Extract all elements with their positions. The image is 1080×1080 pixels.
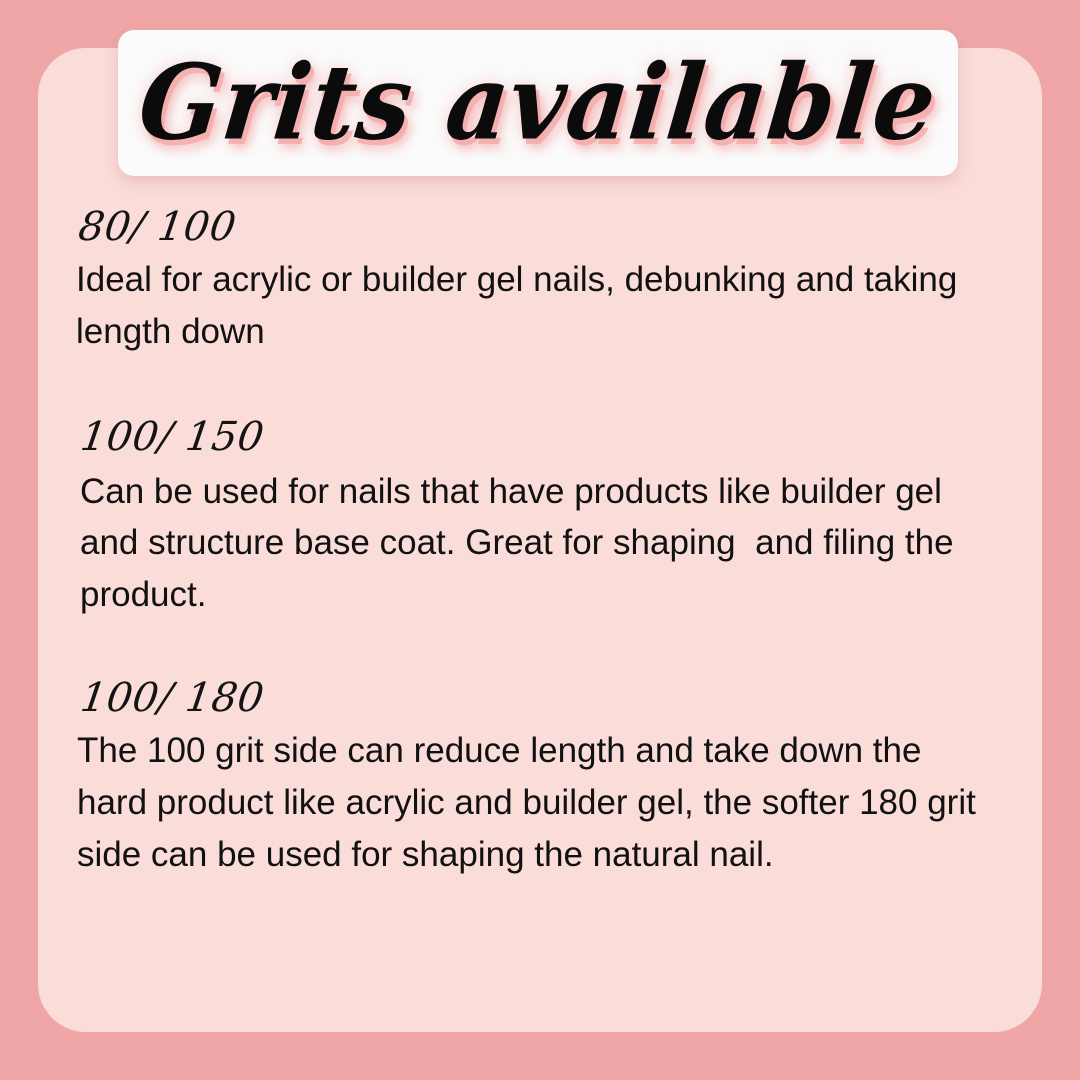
grit-description: Ideal for acrylic or builder gel nails, … xyxy=(76,254,976,358)
poster-canvas: Grits available 80/ 100 Ideal for acryli… xyxy=(0,0,1080,1080)
grit-description: Can be used for nails that have products… xyxy=(80,466,976,621)
grit-section-80-100: 80/ 100 Ideal for acrylic or builder gel… xyxy=(76,206,976,358)
page-title: Grits available xyxy=(135,51,942,155)
title-banner: Grits available xyxy=(118,30,958,176)
grit-section-100-180: 100/ 180 The 100 grit side can reduce le… xyxy=(76,677,976,880)
grit-heading: 80/ 100 xyxy=(76,206,982,248)
grit-description: The 100 grit side can reduce length and … xyxy=(77,725,976,880)
grit-list: 80/ 100 Ideal for acrylic or builder gel… xyxy=(76,206,976,880)
grit-section-100-150: 100/ 150 Can be used for nails that have… xyxy=(76,416,976,621)
grit-heading: 100/ 180 xyxy=(78,677,982,719)
grit-heading: 100/ 150 xyxy=(78,416,982,458)
